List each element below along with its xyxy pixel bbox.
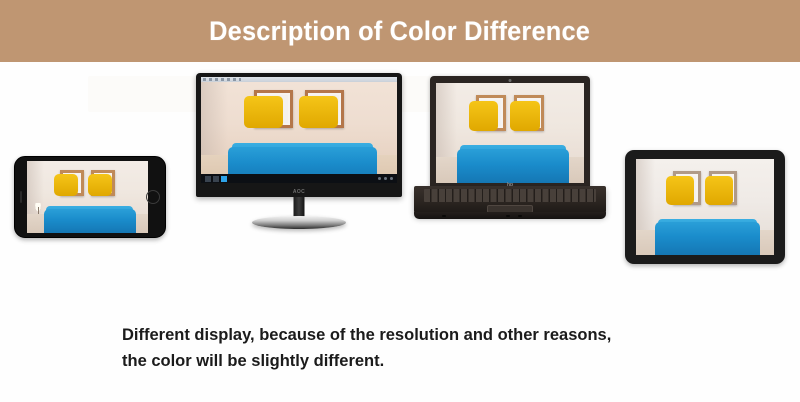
scene-pillow-right	[510, 101, 540, 131]
scene-bed	[44, 209, 136, 233]
monitor-stand-base	[252, 216, 346, 229]
scene-pillow-right	[88, 174, 112, 196]
monitor-brand-label: AOC	[293, 189, 305, 195]
devices-stage: AOC	[0, 62, 800, 312]
bedroom-scene	[636, 159, 774, 255]
tray-dot-icon	[390, 177, 393, 180]
tray-dot-icon	[384, 177, 387, 180]
caption-line-1: Different display, because of the resolu…	[122, 322, 722, 348]
laptop-screen	[436, 83, 584, 183]
phone-screen	[27, 161, 148, 233]
scene-pillow-left	[54, 174, 78, 196]
scene-pillow-right	[705, 176, 733, 205]
port-icon	[442, 215, 446, 218]
monitor-bezel: AOC	[196, 73, 402, 197]
folder-icon[interactable]	[213, 176, 219, 182]
scene-pillow-left	[469, 101, 499, 131]
bedroom-scene	[436, 83, 584, 183]
scene-wall-shadow	[201, 77, 228, 155]
caption-block: Different display, because of the resolu…	[122, 322, 722, 374]
scene-pillow-right	[299, 96, 338, 128]
tablet-device	[625, 150, 785, 264]
desktop-monitor-device: AOC	[196, 73, 402, 223]
browser-icon[interactable]	[221, 176, 227, 182]
monitor-screen	[201, 77, 397, 183]
banner-header: Description of Color Difference	[0, 0, 800, 62]
tray-dot-icon	[378, 177, 381, 180]
window-icon[interactable]	[205, 176, 211, 182]
scene-lamp-icon	[34, 203, 41, 215]
scene-wall-shadow	[436, 83, 457, 157]
taskbar-tray	[378, 177, 393, 180]
scene-pillow-left	[244, 96, 283, 128]
webcam-icon	[509, 79, 512, 82]
scene-bed	[457, 149, 569, 183]
audio-jack-icon	[506, 215, 510, 218]
smartphone-device	[14, 156, 166, 238]
window-titlebar	[201, 77, 397, 82]
monitor-taskbar[interactable]	[201, 174, 397, 183]
caption-line-2: the color will be slightly different.	[122, 348, 722, 374]
laptop-lid: hp	[430, 76, 590, 188]
tablet-screen	[636, 159, 774, 255]
scene-pillow-left	[666, 176, 694, 205]
color-difference-banner: Description of Color Difference	[0, 0, 800, 402]
page-title: Description of Color Difference	[210, 16, 591, 47]
phone-home-button[interactable]	[146, 190, 160, 204]
phone-speaker-icon	[20, 191, 22, 203]
bedroom-scene	[27, 161, 148, 233]
laptop-device: hp	[414, 76, 606, 226]
scene-wall-shadow	[636, 159, 655, 230]
scene-bed	[655, 222, 760, 255]
laptop-keyboard[interactable]	[424, 189, 596, 202]
audio-jack-icon	[518, 215, 522, 218]
bedroom-scene	[201, 77, 397, 183]
laptop-front-edge	[414, 212, 606, 219]
